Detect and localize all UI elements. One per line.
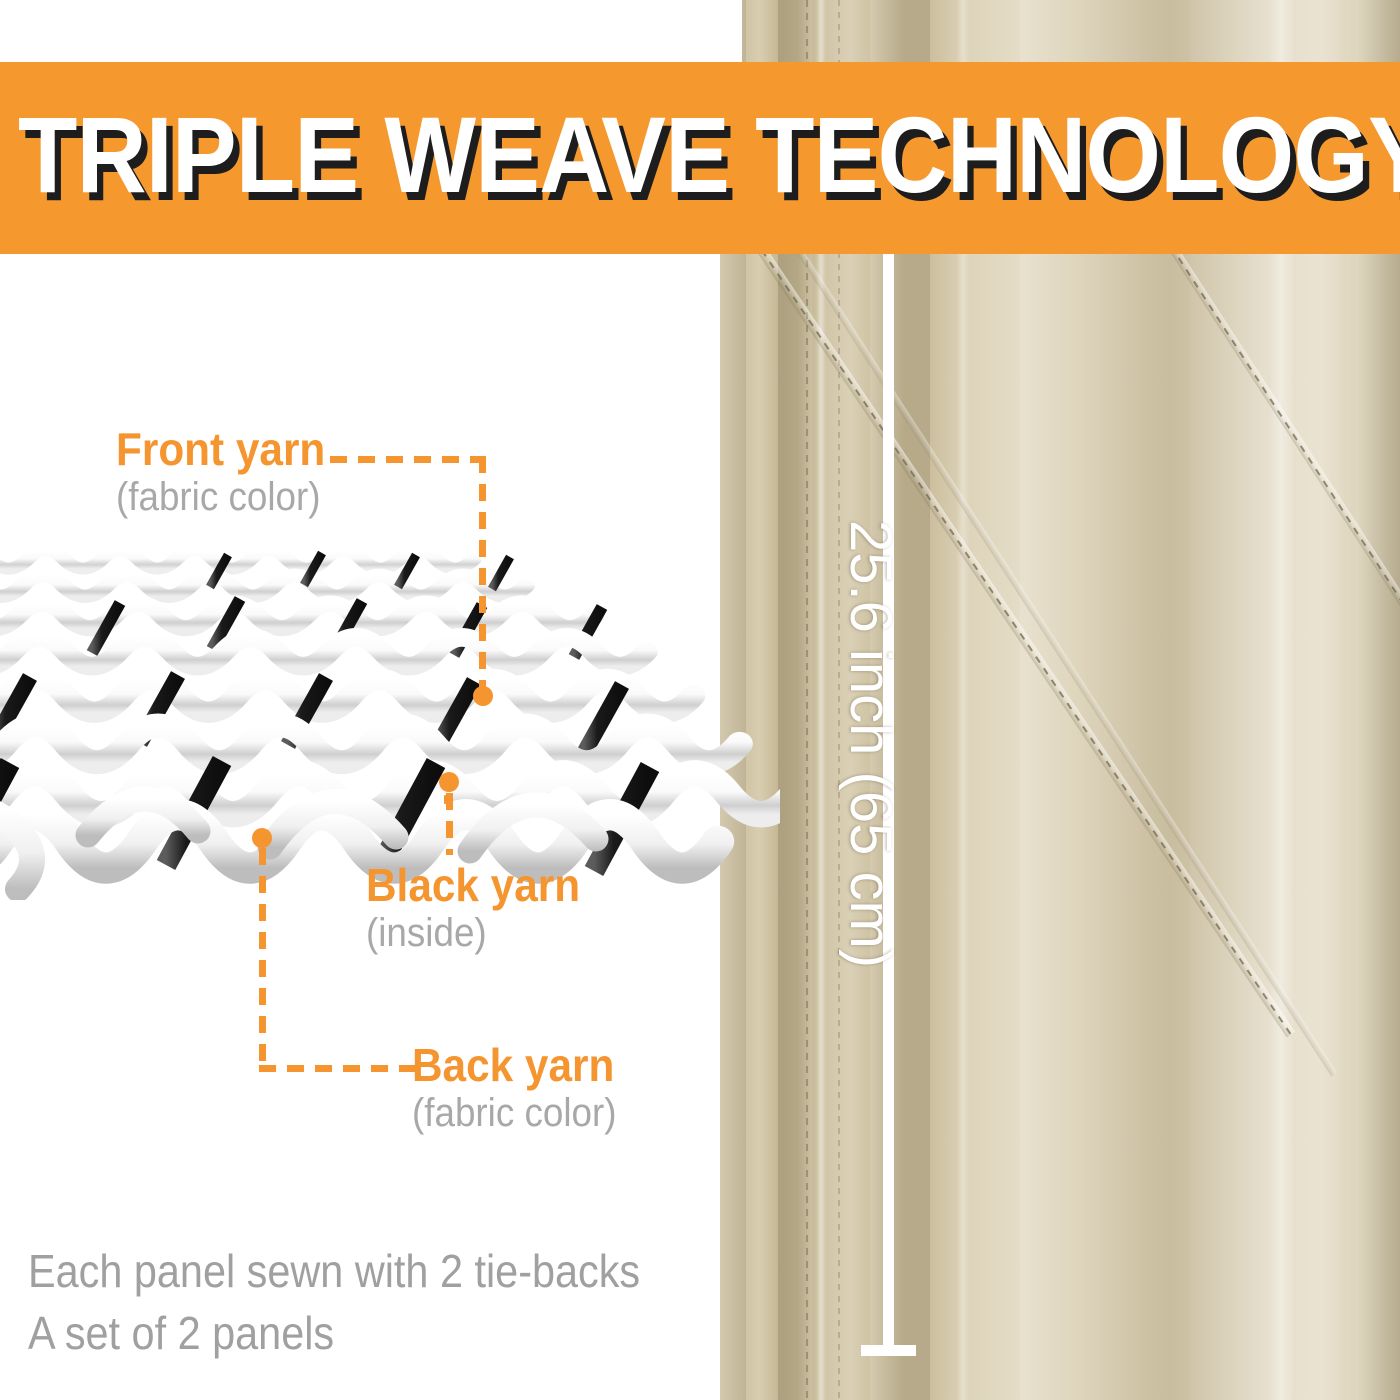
dimension-end-cap — [861, 1345, 916, 1356]
callout-subtitle: (inside) — [366, 910, 580, 956]
callout-title: Black yarn — [366, 860, 580, 910]
callout-black-yarn: Black yarn (inside) — [366, 860, 599, 956]
front-yarn-leader-vertical — [479, 456, 486, 696]
back-yarn-leader-horizontal — [259, 1065, 419, 1072]
front-yarn-leader-horizontal — [330, 456, 486, 463]
back-yarn-anchor-dot — [252, 828, 272, 848]
weave-mesh — [0, 550, 780, 889]
infographic-canvas: TRIPLE WEAVE TECHNOLOGY 25.6 inch (65 cm… — [0, 0, 1400, 1400]
triple-weave-illustration — [0, 495, 780, 900]
callout-subtitle: (fabric color) — [412, 1090, 616, 1136]
header-banner: TRIPLE WEAVE TECHNOLOGY — [0, 62, 1400, 254]
page-title: TRIPLE WEAVE TECHNOLOGY — [18, 96, 1251, 214]
weave-svg — [0, 495, 780, 900]
back-yarn-leader-vertical — [259, 848, 266, 1072]
black-yarn-anchor-dot — [439, 772, 459, 792]
front-yarn-anchor-dot — [473, 686, 493, 706]
callout-front-yarn: Front yarn (fabric color) — [116, 424, 343, 520]
footer-line-2: A set of 2 panels — [28, 1302, 640, 1364]
callout-subtitle: (fabric color) — [116, 474, 325, 520]
footer-line-1: Each panel sewn with 2 tie-backs — [28, 1240, 640, 1302]
callout-back-yarn: Back yarn (fabric color) — [412, 1040, 634, 1136]
callout-title: Front yarn — [116, 424, 325, 474]
callout-title: Back yarn — [412, 1040, 616, 1090]
photo-corner-notch — [720, 0, 742, 64]
footer-copy: Each panel sewn with 2 tie-backs A set o… — [28, 1240, 708, 1364]
dimension-label: 25.6 inch (65 cm) — [835, 520, 905, 1140]
black-yarn-leader-vertical — [446, 793, 453, 855]
